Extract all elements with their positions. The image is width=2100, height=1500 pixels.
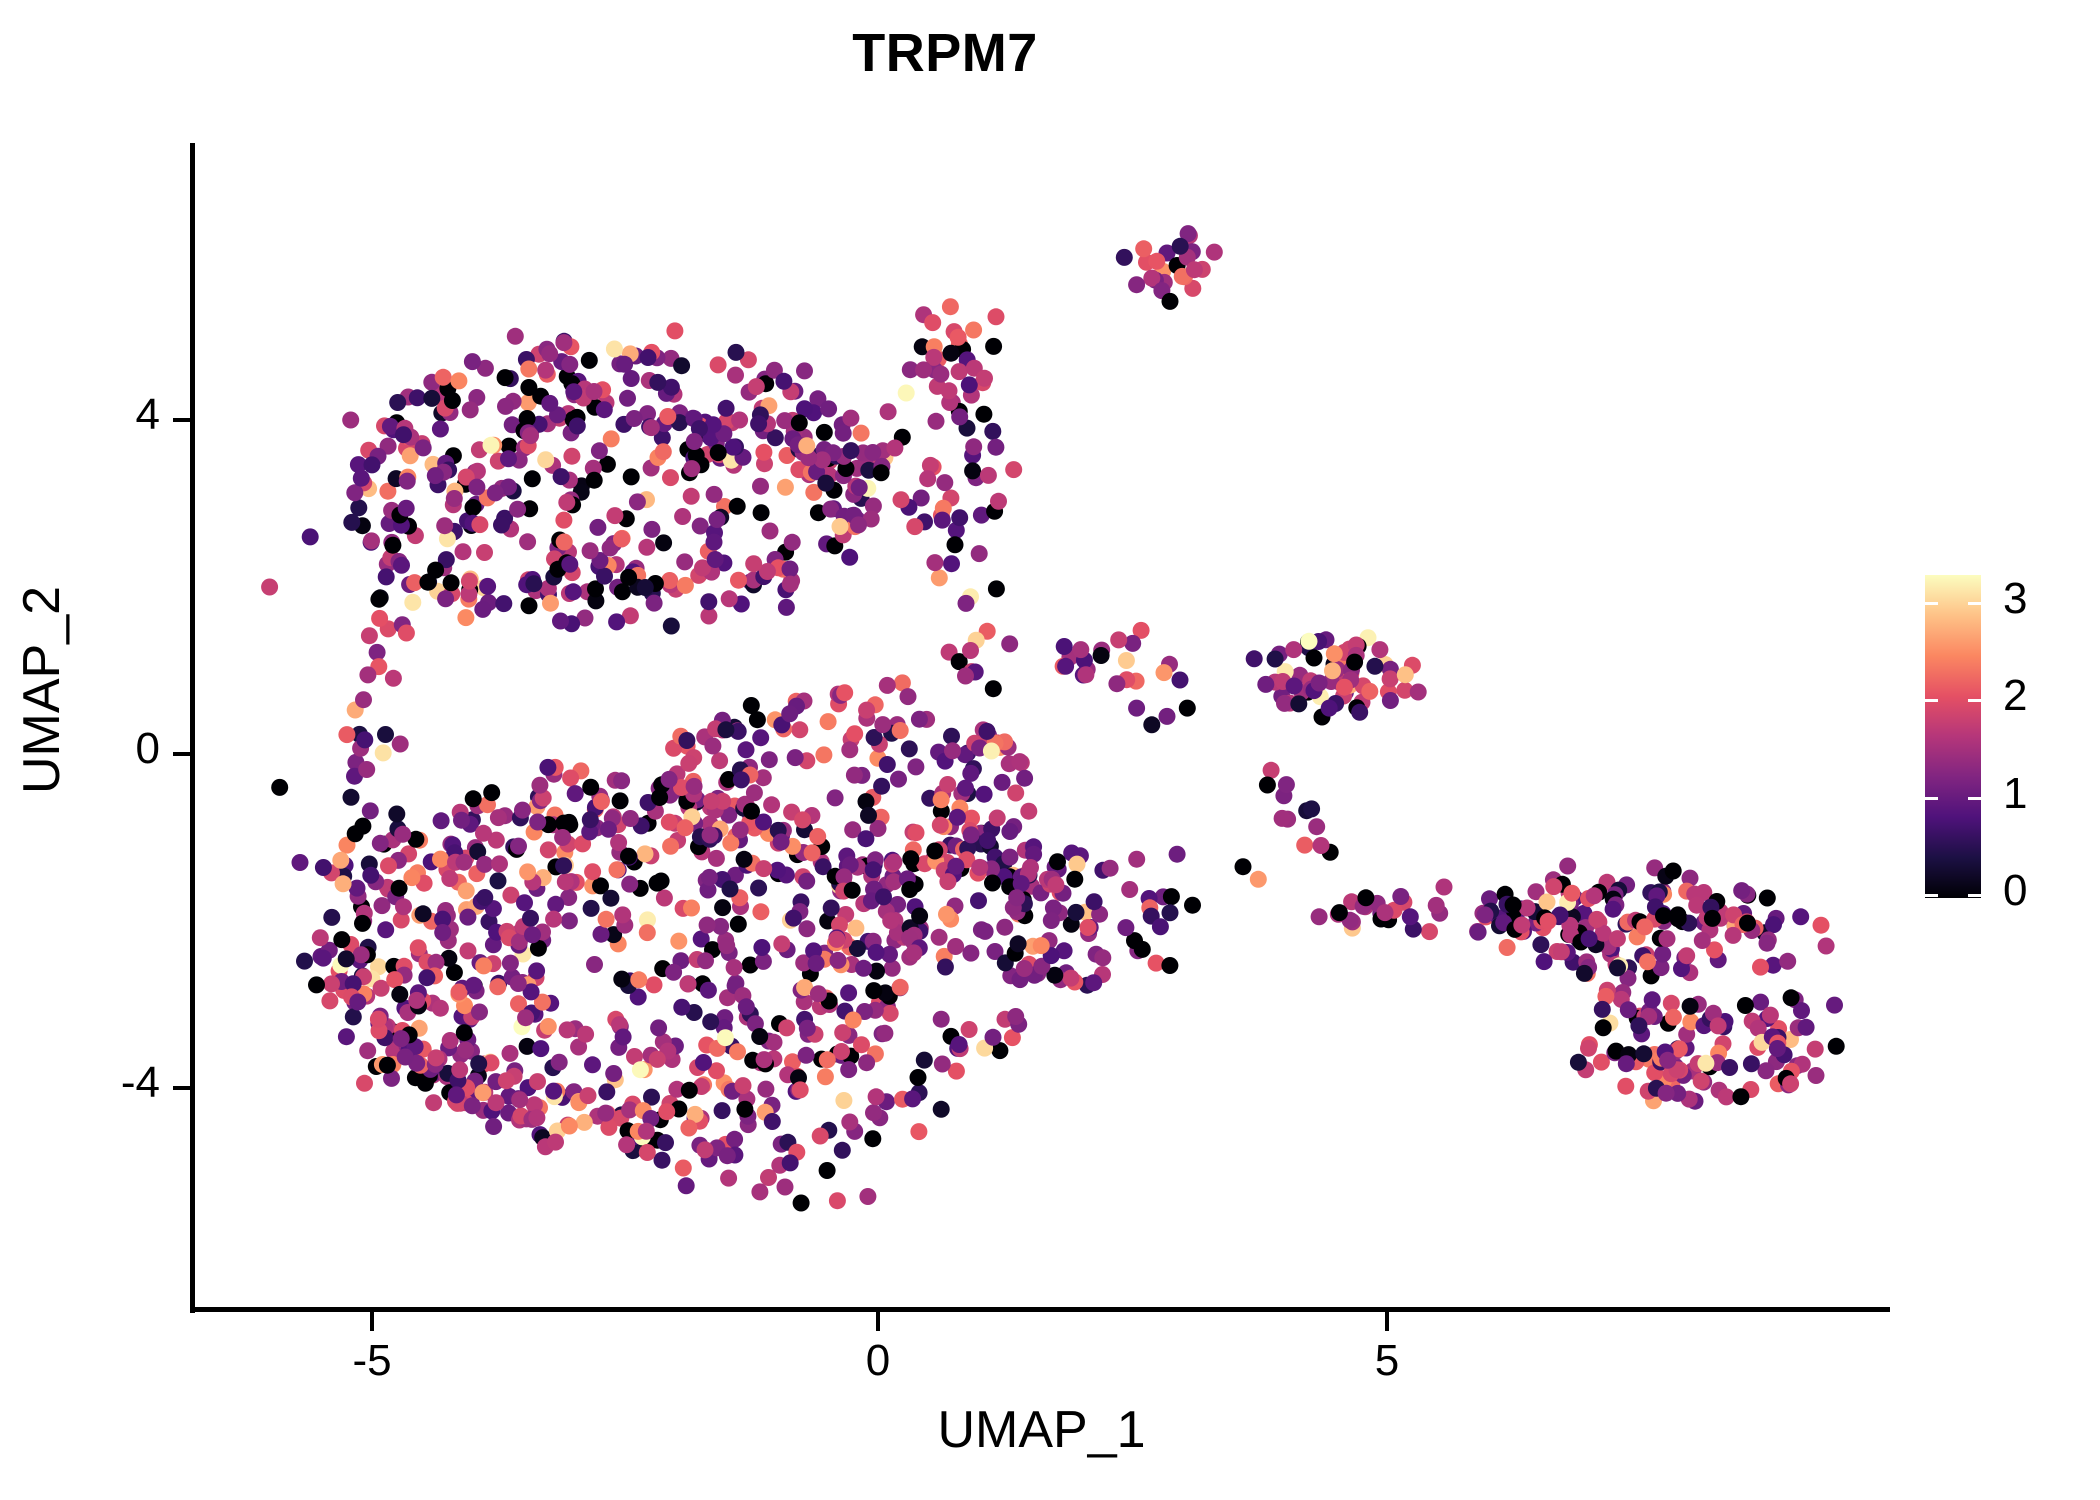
- x-tick-mark--5: [370, 1312, 374, 1331]
- colorbar-label-0: 0: [2003, 869, 2027, 913]
- colorbar-legend: 3 2 1 0: [1925, 575, 2085, 905]
- x-tick-label-0: 0: [808, 1336, 948, 1386]
- colorbar-gradient: [1925, 575, 1981, 898]
- x-tick-mark-0: [876, 1312, 880, 1331]
- colorbar-tick-0: [1925, 894, 1981, 897]
- y-tick-mark-4: [173, 418, 190, 422]
- colorbar-tick-2: [1925, 699, 1981, 702]
- y-tick-label-4: 4: [40, 390, 160, 440]
- plot-panel: [193, 143, 1890, 1310]
- y-tick-mark-0: [173, 752, 190, 756]
- scatter-points: [193, 143, 1890, 1310]
- figure-root: TRPM7 4 0 -4 -5 0 5 UMAP_2 UMAP_1 3 2 1 …: [0, 0, 2100, 1500]
- colorbar-label-2: 2: [2003, 674, 2027, 718]
- colorbar-label-1: 1: [2003, 772, 2027, 816]
- x-axis-line: [190, 1307, 1890, 1312]
- x-tick-label-5: 5: [1317, 1336, 1457, 1386]
- y-axis-label: UMAP_2: [12, 470, 72, 910]
- chart-title: TRPM7: [0, 22, 1890, 84]
- colorbar-tick-3: [1925, 602, 1981, 605]
- colorbar-label-3: 3: [2003, 577, 2027, 621]
- x-axis-label: UMAP_1: [193, 1400, 1890, 1460]
- y-tick-mark--4: [173, 1086, 190, 1090]
- y-tick-label--4: -4: [40, 1058, 160, 1108]
- x-tick-mark-5: [1385, 1312, 1389, 1331]
- colorbar-tick-1: [1925, 797, 1981, 800]
- x-tick-label--5: -5: [302, 1336, 442, 1386]
- y-axis-line: [190, 143, 195, 1313]
